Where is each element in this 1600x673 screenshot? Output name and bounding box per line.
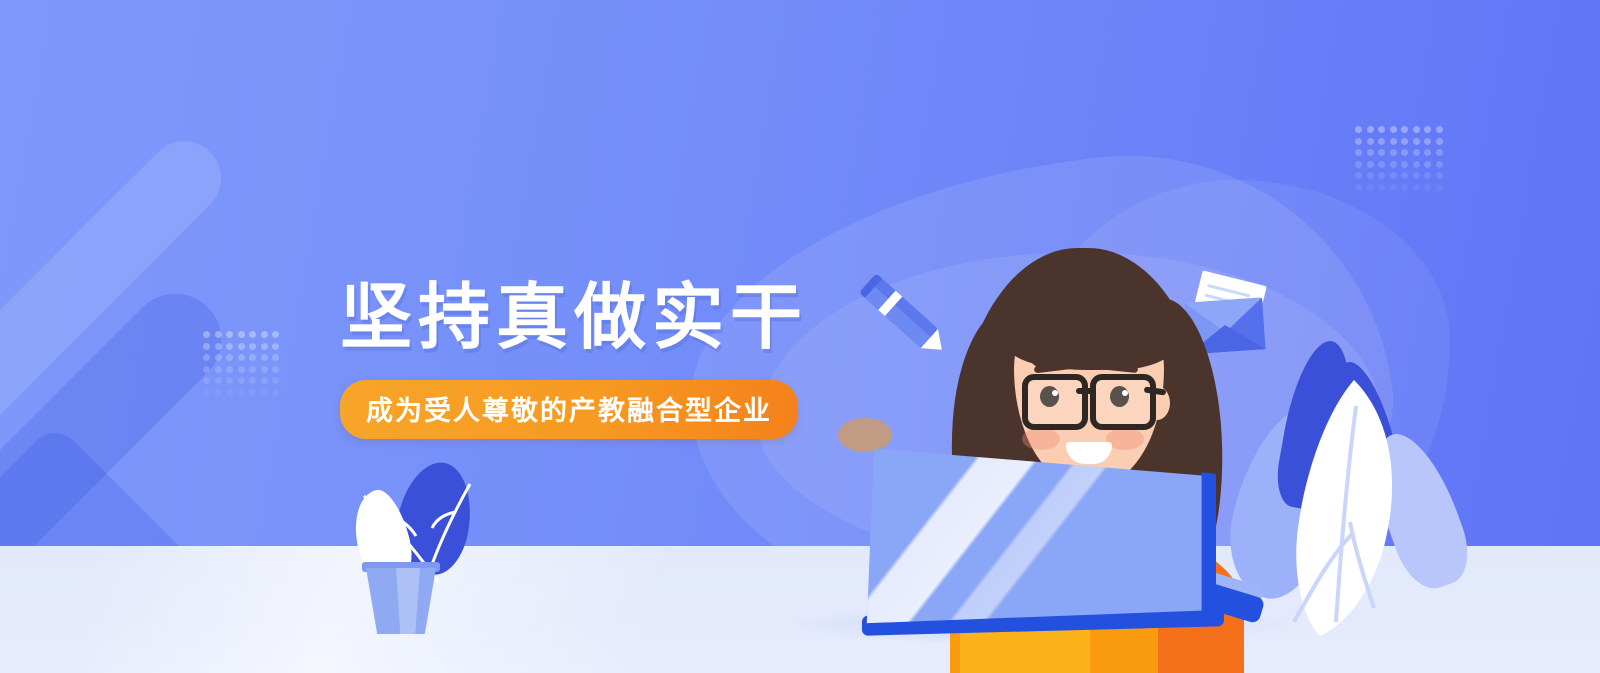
hero-copy: 坚持真做实干 成为受人尊敬的产教融合型企业 (340, 280, 880, 439)
glasses-icon (1022, 374, 1088, 430)
diagonal-bar-light (0, 126, 236, 482)
page-title: 坚持真做实干 (340, 280, 880, 358)
laptop-illustration (856, 443, 1256, 643)
hero-banner: 坚持真做实干 成为受人尊敬的产教融合型企业 (0, 0, 1600, 673)
leaf-white-icon (1258, 372, 1438, 642)
tagline-badge: 成为受人尊敬的产教融合型企业 (340, 380, 798, 439)
